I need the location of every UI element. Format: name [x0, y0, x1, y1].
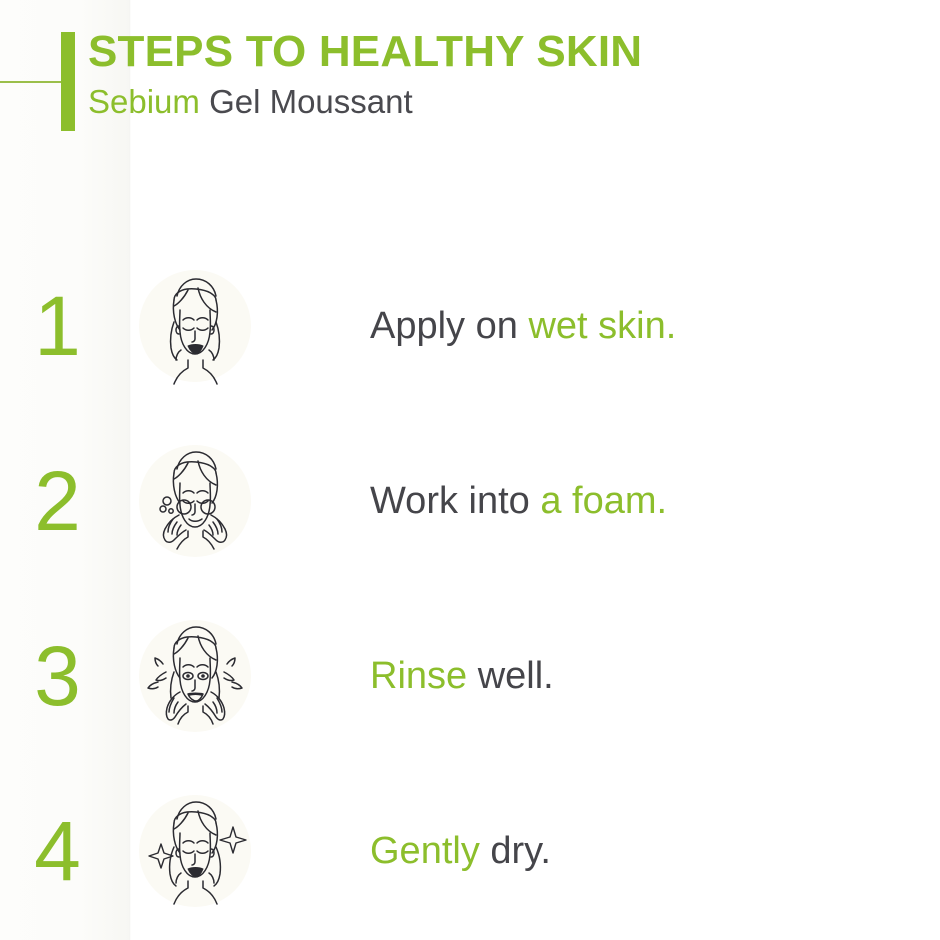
header-accent-bar: [61, 32, 75, 131]
steps-list: 1: [0, 238, 940, 938]
step-row: 4: [0, 763, 940, 938]
step-icon-wrap: [115, 781, 275, 921]
step-number: 3: [0, 634, 115, 718]
face-drying-sparkles-icon: [136, 789, 254, 913]
face-rinsing-water-icon: [136, 614, 254, 738]
step-text: Apply on wet skin.: [275, 303, 940, 349]
step-text-plain: well.: [467, 655, 554, 697]
step-text-plain: dry.: [480, 830, 551, 872]
step-icon-wrap: [115, 606, 275, 746]
step-text-highlight: Rinse: [370, 655, 467, 697]
step-number: 4: [0, 809, 115, 893]
page-subtitle: Sebium Gel Moussant: [88, 83, 918, 121]
subtitle-brand: Sebium: [88, 83, 200, 120]
step-text: Rinse well.: [275, 653, 940, 699]
step-text-plain: Work into: [370, 480, 540, 522]
face-lathering-foam-icon: [136, 439, 254, 563]
step-row: 2: [0, 413, 940, 588]
step-text-highlight: Gently: [370, 830, 480, 872]
step-row: 3: [0, 588, 940, 763]
step-row: 1: [0, 238, 940, 413]
step-number: 2: [0, 459, 115, 543]
step-icon-wrap: [115, 431, 275, 571]
step-text-plain: Apply on: [370, 305, 528, 347]
step-text: Work into a foam.: [275, 478, 940, 524]
header-text-block: STEPS TO HEALTHY SKIN Sebium Gel Moussan…: [88, 27, 918, 121]
step-text-highlight: a foam.: [540, 480, 667, 522]
subtitle-product: Gel Moussant: [209, 83, 413, 120]
header: STEPS TO HEALTHY SKIN Sebium Gel Moussan…: [0, 0, 940, 170]
face-hands-on-cheeks-icon: [136, 264, 254, 388]
step-number: 1: [0, 284, 115, 368]
step-text-highlight: wet skin.: [528, 305, 676, 347]
step-text: Gently dry.: [275, 828, 940, 874]
page-title: STEPS TO HEALTHY SKIN: [88, 27, 918, 77]
header-rule-line: [0, 81, 62, 83]
step-icon-wrap: [115, 256, 275, 396]
